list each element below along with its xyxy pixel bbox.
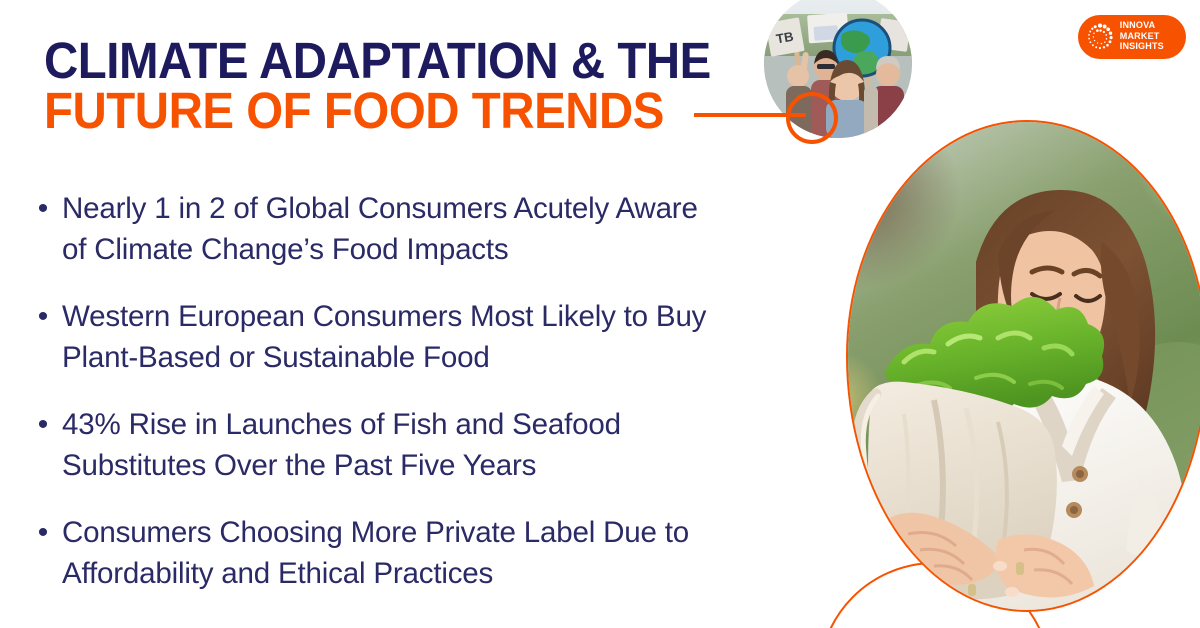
infographic-canvas: TB: [0, 0, 1200, 628]
logo-line-3: INSIGHTS: [1120, 42, 1183, 53]
page-title: CLIMATE ADAPTATION & THE FUTURE OF FOOD …: [44, 36, 764, 136]
bullet-marker: •: [24, 404, 62, 445]
bullet-marker: •: [24, 188, 62, 229]
logo-line-1: INNOVA: [1120, 21, 1183, 32]
headline-line-1: CLIMATE ADAPTATION & THE: [44, 36, 714, 86]
list-item: • 43% Rise in Launches of Fish and Seafo…: [24, 404, 724, 486]
dot-ring-icon: [1085, 22, 1115, 52]
bullet-text: Western European Consumers Most Likely t…: [62, 296, 714, 378]
svg-text:TB: TB: [775, 29, 795, 47]
bullet-text: Nearly 1 in 2 of Global Consumers Acutel…: [62, 188, 714, 270]
bullet-marker: •: [24, 296, 62, 337]
list-item: • Consumers Choosing More Private Label …: [24, 512, 724, 594]
orange-circle-ring: [786, 92, 838, 144]
woman-with-grocery-tote-photo: [846, 120, 1200, 612]
bullet-marker: •: [24, 512, 62, 553]
bullet-text: 43% Rise in Launches of Fish and Seafood…: [62, 404, 714, 486]
key-findings-list: • Nearly 1 in 2 of Global Consumers Acut…: [24, 188, 724, 620]
headline-line-2: FUTURE OF FOOD TRENDS: [44, 86, 714, 136]
list-item: • Western European Consumers Most Likely…: [24, 296, 724, 378]
logo-wordmark: INNOVA MARKET INSIGHTS: [1115, 21, 1182, 53]
list-item: • Nearly 1 in 2 of Global Consumers Acut…: [24, 188, 724, 270]
bullet-text: Consumers Choosing More Private Label Du…: [62, 512, 714, 594]
innova-market-insights-logo[interactable]: INNOVA MARKET INSIGHTS: [1078, 15, 1186, 59]
